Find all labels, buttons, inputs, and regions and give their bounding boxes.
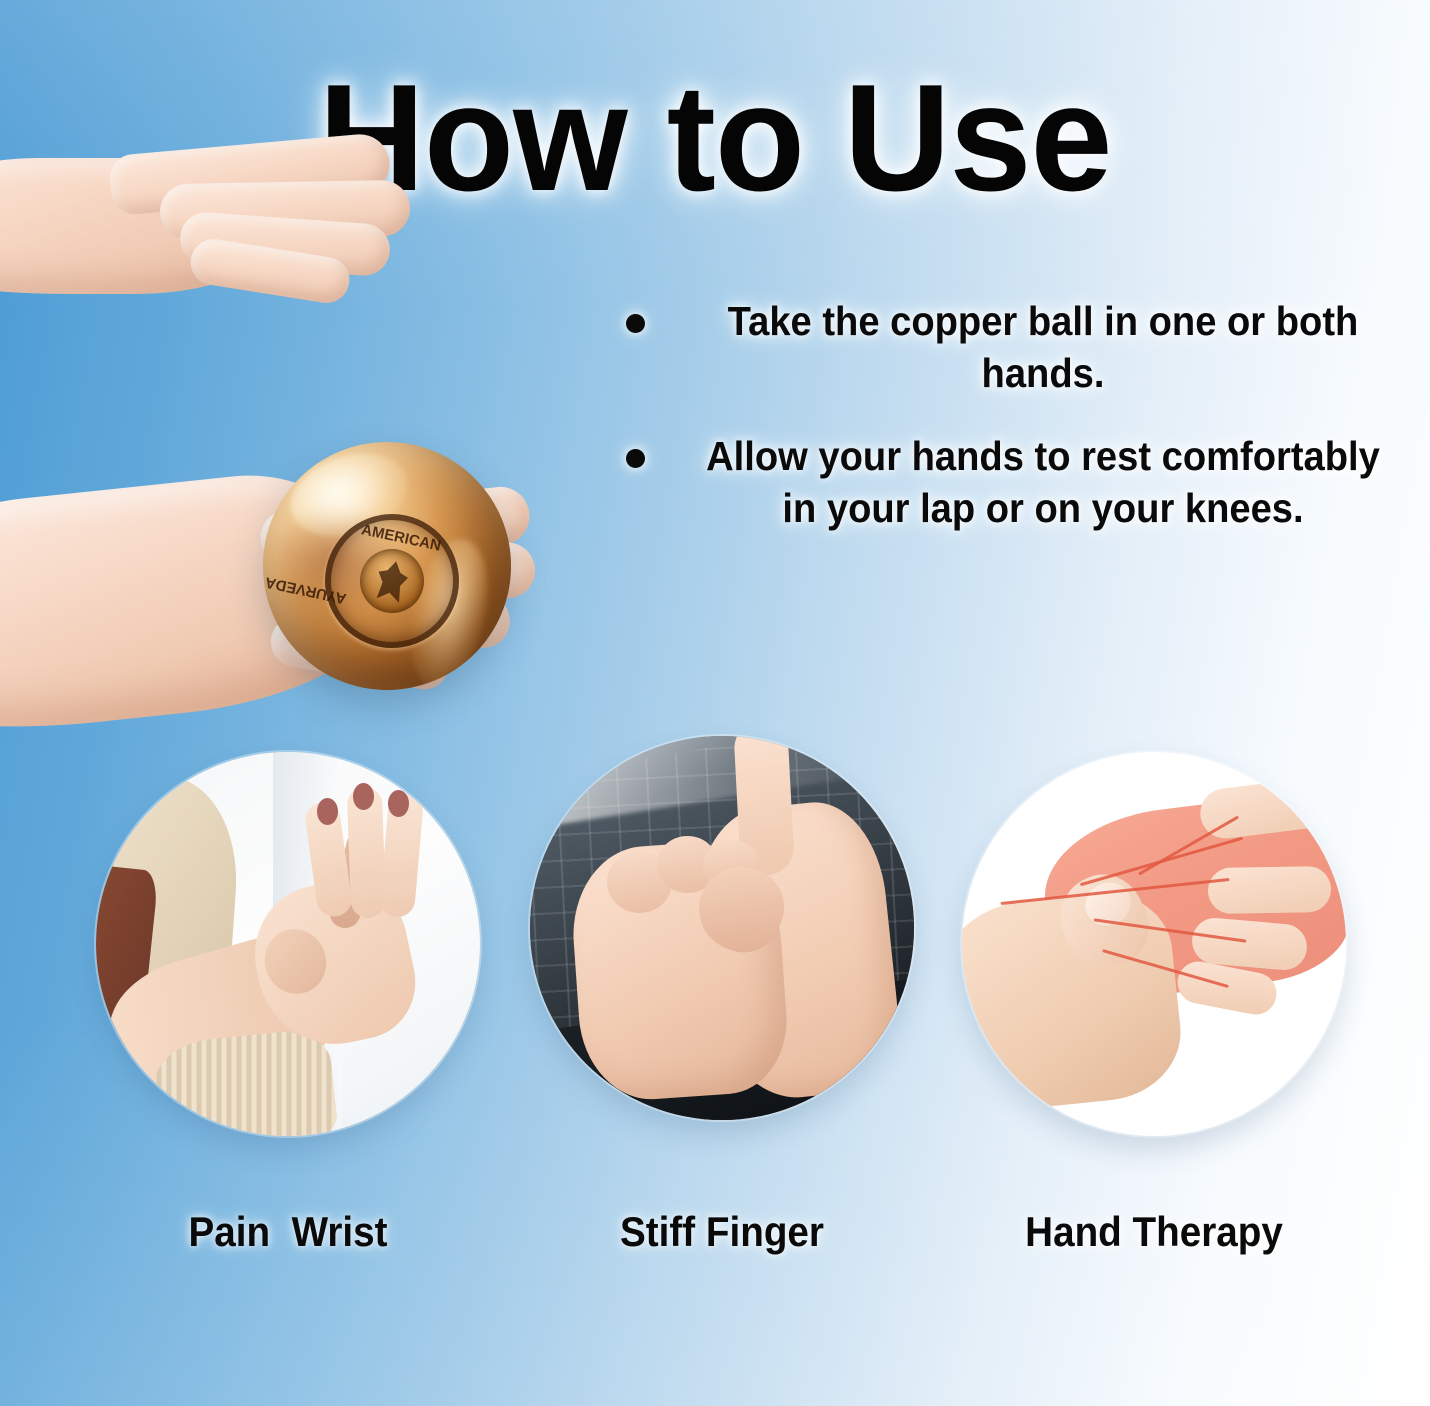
caption-wrist-pain: Pain Wrist	[111, 1208, 464, 1256]
wrist-pain-photo	[96, 752, 480, 1136]
list-item: Take the copper ball in one or both hand…	[618, 296, 1408, 399]
photo-nail-1	[317, 798, 338, 825]
instruction-text-1: Take the copper ball in one or both hand…	[704, 296, 1383, 399]
nerve-line-4	[1102, 949, 1228, 988]
hand-therapy-photo	[962, 752, 1346, 1136]
nerve-line-3	[1093, 918, 1246, 942]
nerve-line-1	[1001, 878, 1230, 905]
list-item: Allow your hands to rest comfortably in …	[618, 431, 1408, 534]
caption-hand-therapy: Hand Therapy	[977, 1208, 1330, 1256]
photo-nail-2	[353, 783, 374, 810]
how-to-use-poster: How to Use AMERICAN AY	[0, 0, 1430, 1406]
use-case-image-stiff-finger	[530, 736, 914, 1120]
photo-nail-3	[388, 790, 409, 817]
use-case-image-hand-therapy	[962, 752, 1346, 1136]
copper-ball: AMERICAN AYURVEDA	[263, 442, 511, 690]
bullet-dot-icon	[626, 449, 645, 468]
instruction-text-2: Allow your hands to rest comfortably in …	[704, 431, 1383, 534]
nerve-line-5	[1138, 816, 1239, 876]
stiff-finger-photo	[530, 736, 914, 1120]
illustration-nerve-overlay	[962, 752, 1346, 1136]
ball-logo-ring-text: AMERICAN AYURVEDA	[320, 509, 465, 654]
ball-logo-brand-top: AMERICAN	[360, 521, 443, 554]
bullet-dot-icon	[626, 314, 645, 333]
hero-scene: AMERICAN AYURVEDA	[0, 120, 680, 760]
instruction-list: Take the copper ball in one or both hand…	[618, 296, 1408, 567]
upper-hand-illustration	[0, 120, 420, 310]
caption-stiff-finger: Stiff Finger	[545, 1208, 898, 1256]
use-case-image-wrist-pain	[96, 752, 480, 1136]
